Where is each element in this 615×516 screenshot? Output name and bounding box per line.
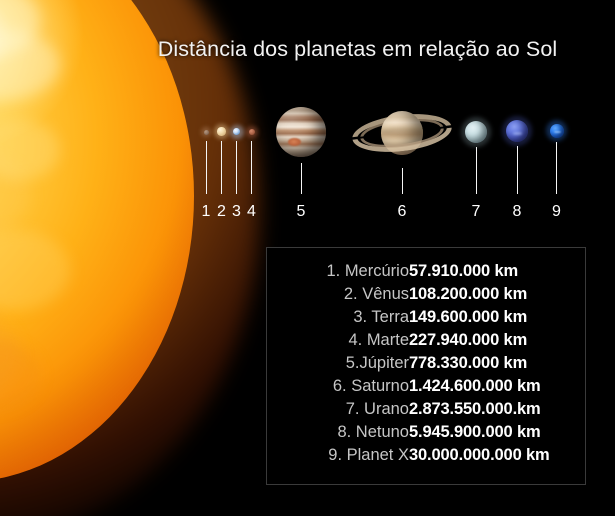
table-row: 2. Vênus 108.200.000 km xyxy=(267,283,585,306)
legend-planet-distance: 1.424.600.000 km xyxy=(409,375,585,398)
legend-planet-name: 5.Júpiter xyxy=(267,352,409,375)
leader-line-5 xyxy=(301,163,302,194)
planet-number-9: 9 xyxy=(544,203,570,221)
legend-planet-name: 8. Netuno xyxy=(267,421,409,444)
leader-line-2 xyxy=(221,141,222,194)
leader-line-7 xyxy=(476,147,477,194)
distance-legend-panel: 1. Mercúrio 57.910.000 km 2. Vênus 108.2… xyxy=(266,247,586,485)
distance-legend-table: 1. Mercúrio 57.910.000 km 2. Vênus 108.2… xyxy=(267,260,585,467)
page-title: Distância dos planetas em relação ao Sol xyxy=(0,37,615,62)
legend-planet-distance: 778.330.000 km xyxy=(409,352,585,375)
table-row: 5.Júpiter 778.330.000 km xyxy=(267,352,585,375)
planet-neptune-icon xyxy=(506,120,528,142)
legend-planet-name: 1. Mercúrio xyxy=(267,260,409,283)
table-row: 8. Netuno 5.945.900.000 km xyxy=(267,421,585,444)
legend-planet-distance: 2.873.550.000.km xyxy=(409,398,585,421)
saturn-ring-shadow xyxy=(381,127,423,137)
legend-planet-name: 6. Saturno xyxy=(267,375,409,398)
leader-line-3 xyxy=(236,141,237,194)
planet-mercury-icon xyxy=(204,130,209,135)
planet-x-cloud-band xyxy=(554,131,561,133)
leader-line-9 xyxy=(556,142,557,194)
legend-planet-distance: 5.945.900.000 km xyxy=(409,421,585,444)
table-row: 1. Mercúrio 57.910.000 km xyxy=(267,260,585,283)
legend-planet-distance: 108.200.000 km xyxy=(409,283,585,306)
legend-planet-distance: 227.940.000 km xyxy=(409,329,585,352)
leader-line-6 xyxy=(402,168,403,194)
legend-planet-distance: 30.000.000.000 km xyxy=(409,444,585,467)
planet-number-7: 7 xyxy=(463,203,489,221)
legend-planet-name: 4. Marte xyxy=(267,329,409,352)
legend-planet-name: 3. Terra xyxy=(267,306,409,329)
planet-uranus-icon xyxy=(465,121,487,143)
planet-jupiter-icon xyxy=(276,107,326,157)
table-row: 3. Terra 149.600.000 km xyxy=(267,306,585,329)
jupiter-great-red-spot xyxy=(288,138,301,146)
table-row: 4. Marte 227.940.000 km xyxy=(267,329,585,352)
planet-number-8: 8 xyxy=(504,203,530,221)
legend-planet-name: 9. Planet X xyxy=(267,444,409,467)
leader-line-1 xyxy=(206,141,207,194)
planet-venus-icon xyxy=(217,127,226,136)
planet-number-5: 5 xyxy=(288,203,314,221)
planet-mars-icon xyxy=(249,129,255,135)
legend-planet-name: 2. Vênus xyxy=(267,283,409,306)
neptune-cloud-band xyxy=(513,132,522,135)
legend-planet-name: 7. Urano xyxy=(267,398,409,421)
table-row: 9. Planet X 30.000.000.000 km xyxy=(267,444,585,467)
leader-line-8 xyxy=(517,146,518,194)
planet-number-4: 4 xyxy=(239,203,265,221)
table-row: 7. Urano 2.873.550.000.km xyxy=(267,398,585,421)
legend-planet-distance: 149.600.000 km xyxy=(409,306,585,329)
solar-system-diagram: Distância dos planetas em relação ao Sol… xyxy=(0,0,615,516)
planet-number-6: 6 xyxy=(389,203,415,221)
planet-x-icon xyxy=(550,124,564,138)
planet-earth-icon xyxy=(233,128,241,136)
table-row: 6. Saturno 1.424.600.000 km xyxy=(267,375,585,398)
leader-line-4 xyxy=(251,141,252,194)
legend-planet-distance: 57.910.000 km xyxy=(409,260,585,283)
